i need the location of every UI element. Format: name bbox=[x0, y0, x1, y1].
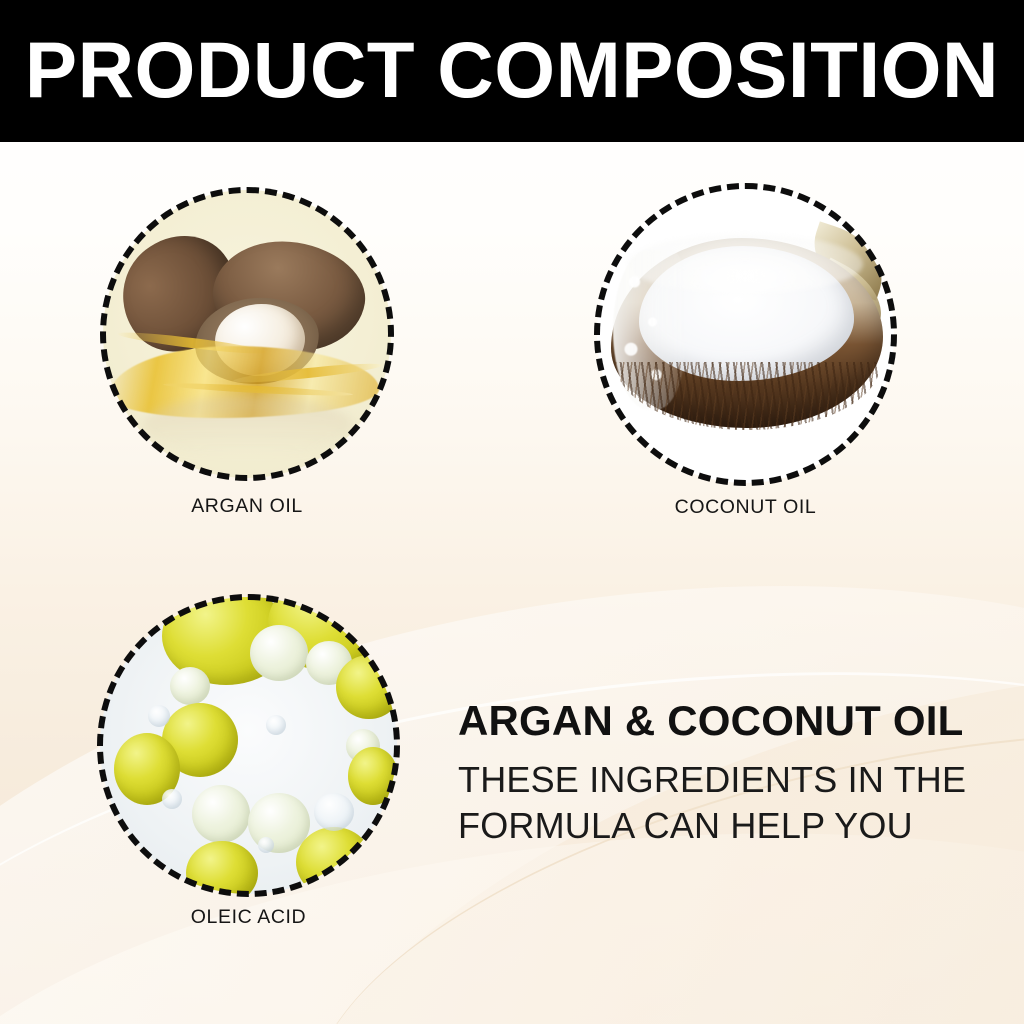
callout-body-line-2: FORMULA CAN HELP YOU bbox=[458, 803, 988, 849]
oil-bubble-10 bbox=[266, 715, 286, 735]
oil-bubble-19 bbox=[314, 793, 354, 831]
oil-bubble-6 bbox=[170, 667, 210, 705]
coconut-fibers bbox=[615, 362, 881, 430]
argan-reflection bbox=[143, 396, 353, 456]
oil-bubble-18 bbox=[296, 827, 372, 894]
ingredient-image-coconut-oil bbox=[597, 186, 894, 483]
callout-heading: ARGAN & COCONUT OIL bbox=[458, 698, 988, 743]
argan-illustration bbox=[103, 190, 391, 478]
header-bar: PRODUCT COMPOSITION bbox=[0, 0, 1024, 142]
callout-body: THESE INGREDIENTS IN THE FORMULA CAN HEL… bbox=[458, 757, 988, 849]
ingredient-label-coconut-oil: COCONUT OIL bbox=[597, 496, 894, 519]
oil-bubble-13 bbox=[192, 785, 250, 843]
callout-body-line-1: THESE INGREDIENTS IN THE bbox=[458, 757, 988, 803]
oil-bubble-15 bbox=[162, 789, 182, 809]
ingredient-label-argan-oil: ARGAN OIL bbox=[103, 495, 391, 518]
oil-bubble-5 bbox=[336, 655, 397, 719]
product-composition-poster: PRODUCT COMPOSITION ARGAN OIL COCONUT OI… bbox=[0, 0, 1024, 1024]
ingredient-label-oleic-acid: OLEIC ACID bbox=[100, 906, 397, 929]
oil-bubble-16 bbox=[258, 837, 274, 853]
ingredient-image-oleic-acid bbox=[100, 597, 397, 894]
oil-bubble-3 bbox=[250, 625, 308, 681]
oil-bubble-17 bbox=[186, 841, 258, 894]
ingredient-image-argan-oil bbox=[103, 190, 391, 478]
oil-bubble-9 bbox=[148, 705, 170, 727]
oil-bubble-12 bbox=[348, 747, 397, 805]
callout-text-block: ARGAN & COCONUT OIL THESE INGREDIENTS IN… bbox=[458, 698, 988, 850]
page-title: PRODUCT COMPOSITION bbox=[25, 30, 999, 113]
